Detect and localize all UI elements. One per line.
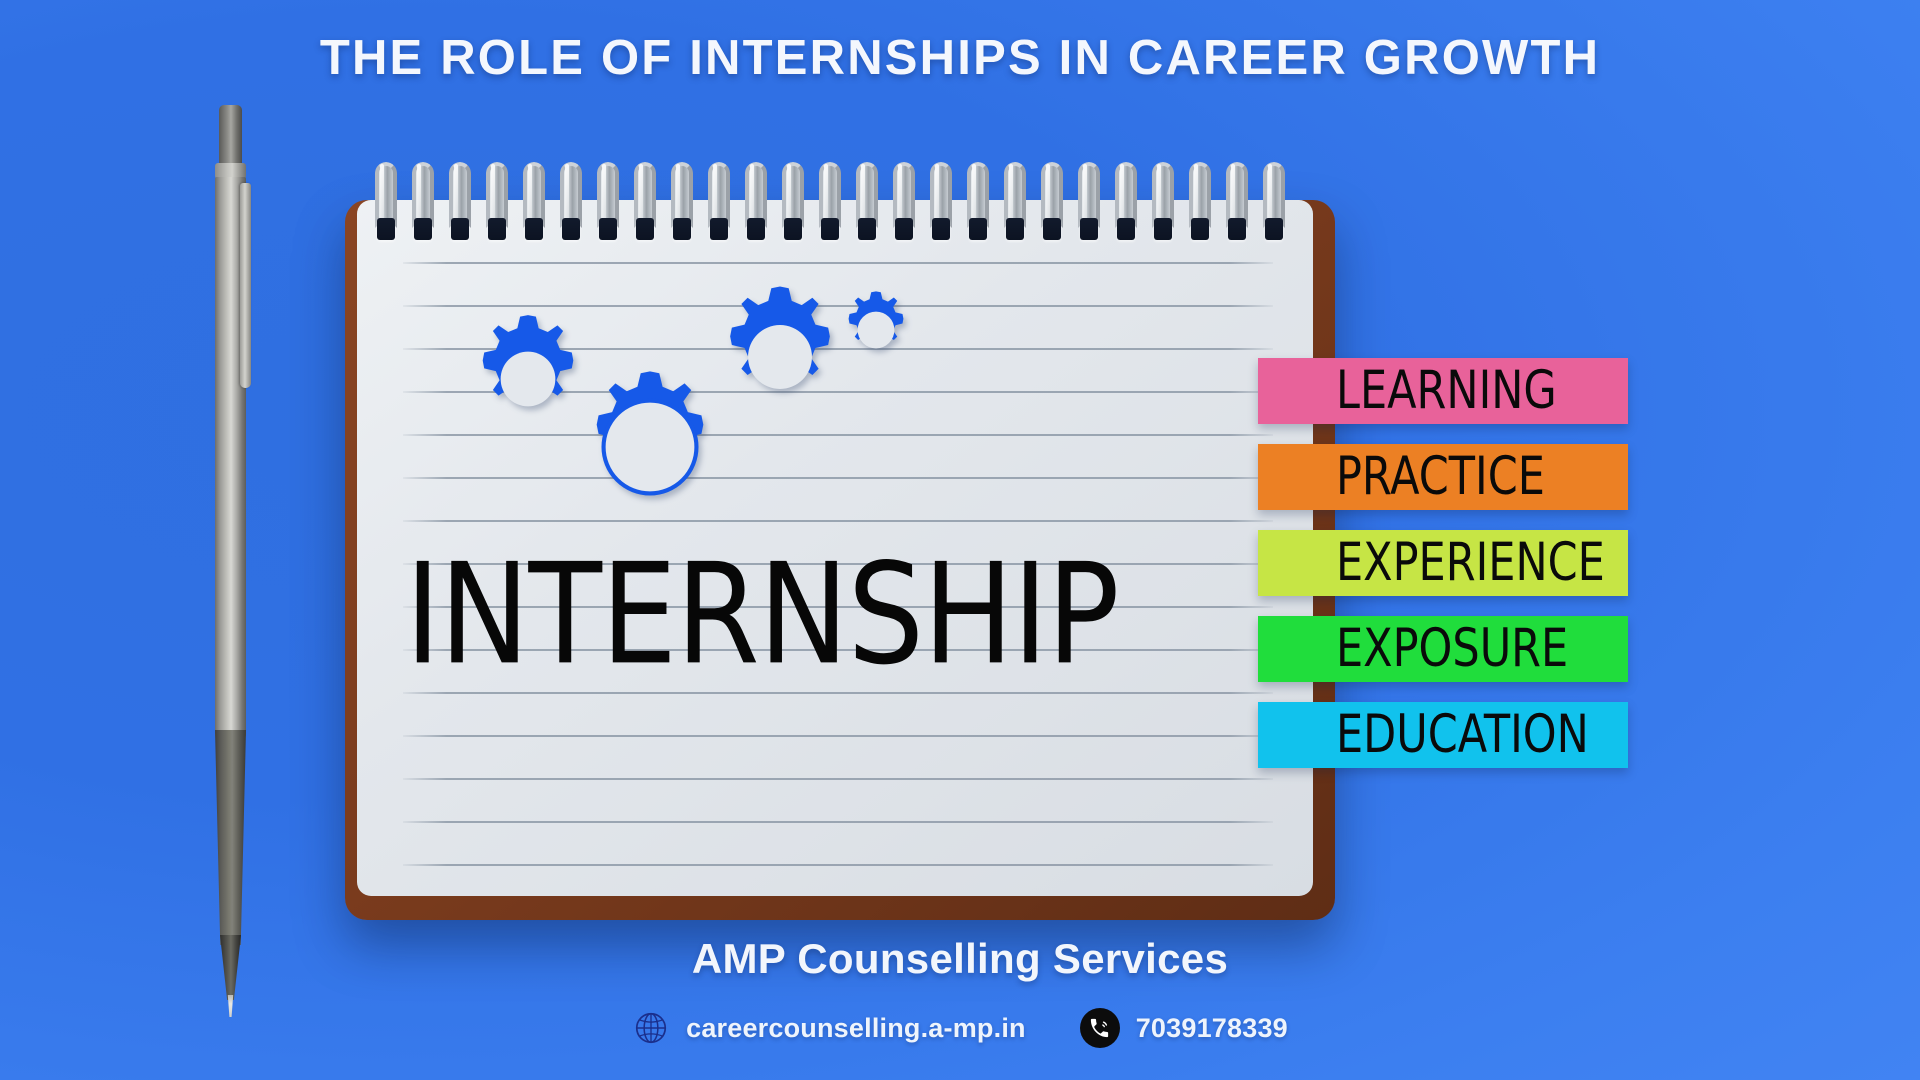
notebook: INTERNSHIP	[345, 200, 1335, 920]
keyword-label[interactable]: EXPERIENCE	[1258, 530, 1628, 596]
pen-icon	[205, 105, 251, 985]
pen-plunger	[219, 105, 242, 167]
spiral-coil	[745, 162, 767, 254]
spiral-coil	[486, 162, 508, 254]
pen-grip	[215, 730, 246, 945]
spiral-coil	[893, 162, 915, 254]
globe-icon	[632, 1009, 670, 1047]
keyword-label[interactable]: EXPOSURE	[1258, 616, 1628, 682]
ruled-line	[403, 735, 1273, 737]
spiral-coil	[1226, 162, 1248, 254]
keyword-label-text: EXPERIENCE	[1336, 533, 1605, 594]
phone-icon	[1080, 1008, 1120, 1048]
spiral-coil	[1078, 162, 1100, 254]
keyword-label-text: EDUCATION	[1336, 705, 1589, 766]
spiral-coil	[967, 162, 989, 254]
spiral-coil	[412, 162, 434, 254]
ruled-line	[403, 821, 1273, 823]
spiral-coil	[634, 162, 656, 254]
phone-text[interactable]: 7039178339	[1136, 1013, 1288, 1044]
spiral-coil	[671, 162, 693, 254]
keyword-label[interactable]: LEARNING	[1258, 358, 1628, 424]
spiral-binding-icon	[375, 162, 1305, 254]
keyword-label-text: PRACTICE	[1336, 447, 1545, 508]
spiral-coil	[560, 162, 582, 254]
spiral-coil	[523, 162, 545, 254]
ruled-line	[403, 864, 1273, 866]
gear-small-right	[830, 284, 922, 376]
notebook-page: INTERNSHIP	[357, 200, 1313, 896]
spiral-coil	[1115, 162, 1137, 254]
spiral-coil	[1263, 162, 1285, 254]
spiral-coil	[930, 162, 952, 254]
keyword-label-text: LEARNING	[1336, 361, 1557, 422]
spiral-coil	[708, 162, 730, 254]
spiral-coil	[819, 162, 841, 254]
keyword-label-text: EXPOSURE	[1336, 619, 1568, 680]
spiral-coil	[856, 162, 878, 254]
ruled-line	[403, 262, 1273, 264]
keyword-label[interactable]: EDUCATION	[1258, 702, 1628, 768]
gears-icon	[452, 275, 922, 490]
ruled-line	[403, 520, 1273, 522]
notebook-headline: INTERNSHIP	[405, 533, 1211, 696]
brand-name: AMP Counselling Services	[0, 935, 1920, 983]
ruled-line	[403, 778, 1273, 780]
spiral-coil	[1004, 162, 1026, 254]
spiral-coil	[375, 162, 397, 254]
spiral-coil	[449, 162, 471, 254]
keyword-label[interactable]: PRACTICE	[1258, 444, 1628, 510]
page-title: THE ROLE OF INTERNSHIPS IN CAREER GROWTH	[0, 30, 1920, 86]
spiral-coil	[1152, 162, 1174, 254]
keyword-label-list: LEARNINGPRACTICEEXPERIENCEEXPOSUREEDUCAT…	[1258, 358, 1628, 788]
contact-bar: careercounselling.a-mp.in 7039178339	[0, 1008, 1920, 1048]
spiral-coil	[1189, 162, 1211, 254]
website-text[interactable]: careercounselling.a-mp.in	[686, 1013, 1026, 1044]
spiral-coil	[1041, 162, 1063, 254]
spiral-coil	[597, 162, 619, 254]
pen-clip	[240, 183, 251, 388]
spiral-coil	[782, 162, 804, 254]
